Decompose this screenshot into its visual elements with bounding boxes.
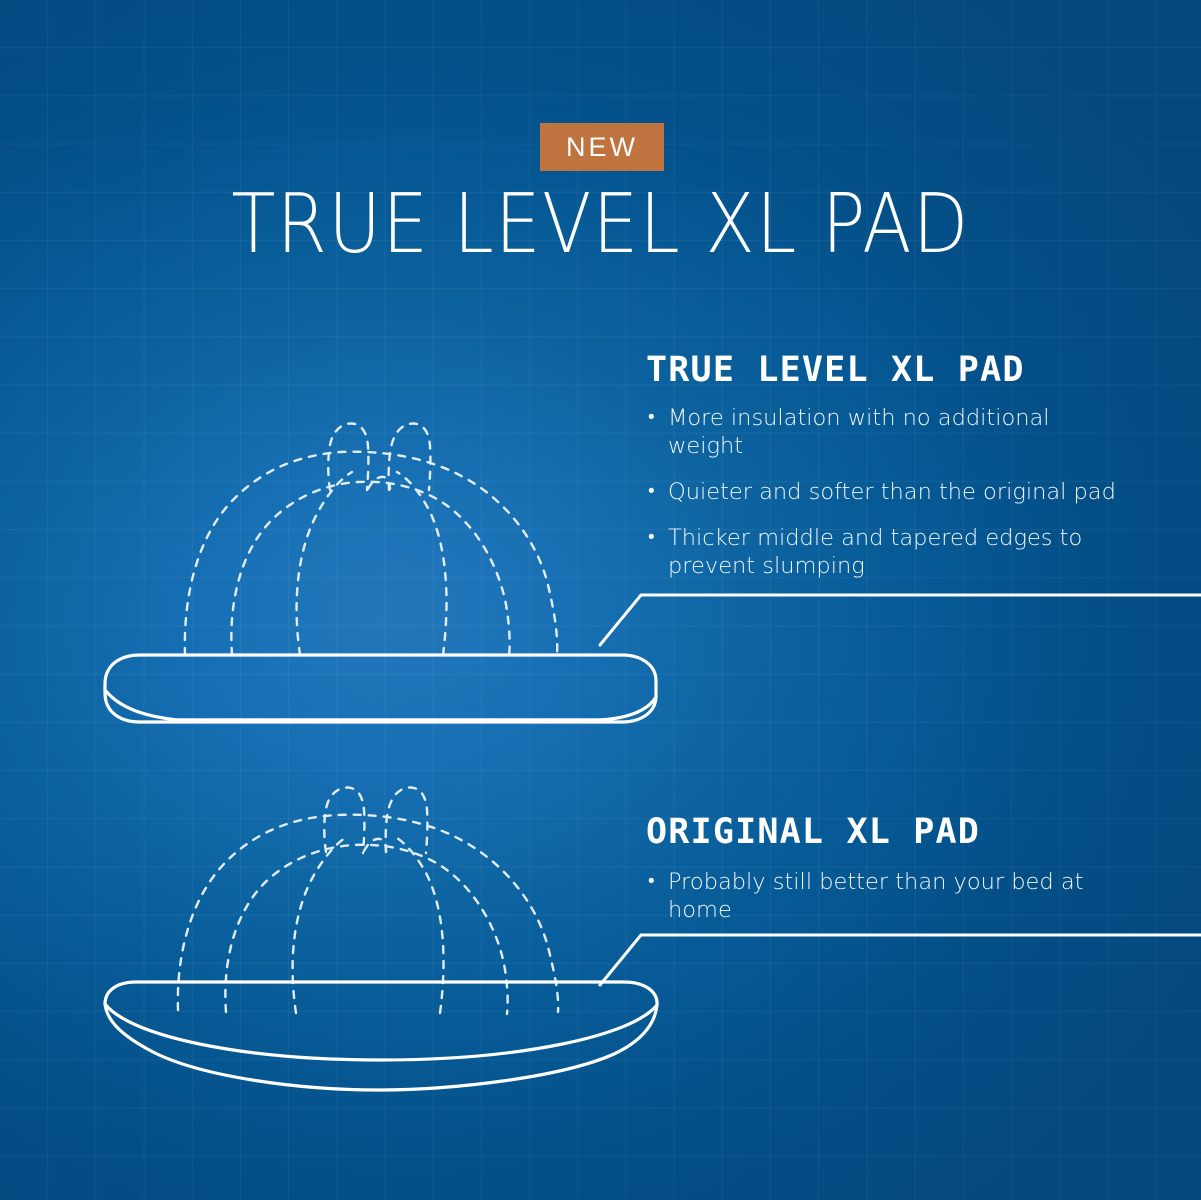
- feature-list-true-level: More insulation with no additional weigh…: [646, 404, 1116, 580]
- section-heading-original: ORIGINAL XL PAD: [646, 812, 1116, 852]
- section-heading-true-level: TRUE LEVEL XL PAD: [646, 350, 1116, 390]
- infographic-canvas: NEW TRUE LEVEL XL PAD TRUE LEVEL XL PAD …: [0, 0, 1201, 1200]
- feature-list-original: Probably still better than your bed at h…: [646, 868, 1116, 924]
- section-original-xl-pad: ORIGINAL XL PAD Probably still better th…: [646, 812, 1116, 942]
- list-item: Probably still better than your bed at h…: [646, 868, 1116, 924]
- list-item: More insulation with no additional weigh…: [646, 404, 1116, 460]
- section-true-level-xl-pad: TRUE LEVEL XL PAD More insulation with n…: [646, 350, 1116, 598]
- list-item: Thicker middle and tapered edges to prev…: [646, 524, 1116, 580]
- page-title: TRUE LEVEL XL PAD: [72, 182, 1129, 268]
- list-item: Quieter and softer than the original pad: [646, 478, 1116, 506]
- new-badge-label: NEW: [566, 132, 638, 163]
- new-badge: NEW: [540, 123, 664, 171]
